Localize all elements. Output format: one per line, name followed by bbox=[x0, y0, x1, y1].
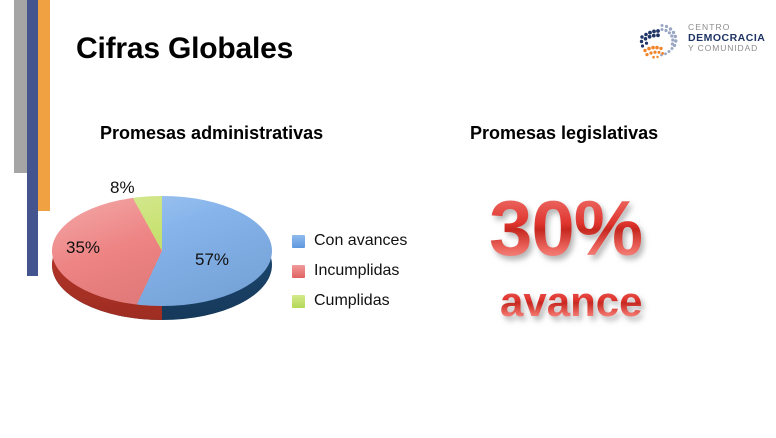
pie-slice-label-incumplidas: 35% bbox=[66, 238, 100, 258]
decor-bar-orange bbox=[38, 0, 50, 211]
logo-swirl-icon bbox=[632, 17, 684, 65]
legend-swatch-green bbox=[292, 295, 305, 308]
pie-slice-label-cumplidas: 8% bbox=[110, 178, 135, 198]
decor-bar-blue bbox=[27, 0, 38, 276]
legend-item-con-avances: Con avances bbox=[292, 226, 407, 256]
heading-promesas-legislativas: Promesas legislativas bbox=[470, 123, 658, 144]
legend-label-cumplidas: Cumplidas bbox=[314, 292, 390, 310]
logo-wordmark: CENTRO DEMOCRACIA Y COMUNIDAD bbox=[688, 23, 765, 54]
legislativas-percentage-caption: avance bbox=[500, 281, 642, 323]
slide-canvas: Cifras Globales bbox=[0, 0, 776, 438]
pie-legend: Con avances Incumplidas Cumplidas bbox=[292, 226, 407, 316]
legend-swatch-red bbox=[292, 265, 305, 278]
pie-slice-label-con-avances: 57% bbox=[195, 250, 229, 270]
page-title: Cifras Globales bbox=[76, 32, 293, 66]
brand-logo: CENTRO DEMOCRACIA Y COMUNIDAD bbox=[632, 17, 764, 65]
legend-swatch-blue bbox=[292, 235, 305, 248]
legend-label-con-avances: Con avances bbox=[314, 232, 407, 250]
legislativas-percentage-value: 30% bbox=[489, 189, 642, 267]
decor-bar-gray bbox=[14, 0, 27, 173]
legend-item-cumplidas: Cumplidas bbox=[292, 286, 407, 316]
legend-item-incumplidas: Incumplidas bbox=[292, 256, 407, 286]
legend-label-incumplidas: Incumplidas bbox=[314, 262, 399, 280]
logo-line-comunidad: Y COMUNIDAD bbox=[688, 44, 765, 54]
heading-promesas-administrativas: Promesas administrativas bbox=[100, 123, 323, 144]
